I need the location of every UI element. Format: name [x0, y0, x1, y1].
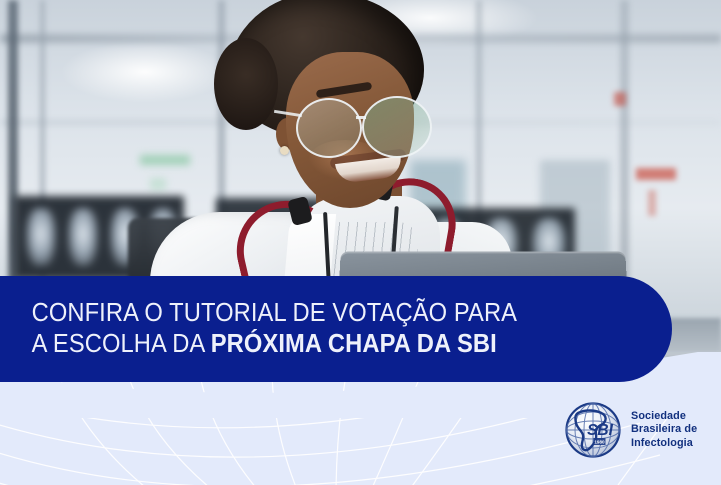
logo-founded-year: 1980	[594, 440, 605, 445]
eyeglasses-bridge	[356, 116, 366, 119]
logo-name-line-3: Infectologia	[631, 437, 697, 451]
earring	[280, 146, 289, 155]
red-wall-item	[636, 168, 676, 180]
logo-name-line-2: Brasileira de	[631, 423, 697, 437]
headline-banner: CONFIRA O TUTORIAL DE VOTAÇÃO PARA A ESC…	[0, 276, 672, 382]
headline-line-2-regular: A ESCOLHA DA	[32, 330, 211, 358]
logo-name-line-1: Sociedade	[631, 410, 697, 424]
eyeglasses-lens-left	[296, 98, 362, 158]
logo-wordmark: Sociedade Brasileira de Infectologia	[631, 410, 697, 451]
red-wall-item	[614, 92, 626, 106]
globe-icon: SBI 1980	[564, 401, 622, 459]
headline-text: CONFIRA O TUTORIAL DE VOTAÇÃO PARA A ESC…	[0, 298, 558, 360]
eyeglasses-lens-right	[362, 96, 432, 158]
logo-acronym: SBI	[587, 422, 614, 439]
headline-line-2-bold: PRÓXIMA CHAPA DA SBI	[211, 330, 497, 358]
sbi-logo[interactable]: SBI 1980 Sociedade Brasileira de Infecto…	[564, 399, 706, 461]
red-wall-item	[648, 190, 656, 216]
promo-banner: CONFIRA O TUTORIAL DE VOTAÇÃO PARA A ESC…	[0, 0, 721, 485]
headline-line-1: CONFIRA O TUTORIAL DE VOTAÇÃO PARA	[32, 299, 517, 327]
